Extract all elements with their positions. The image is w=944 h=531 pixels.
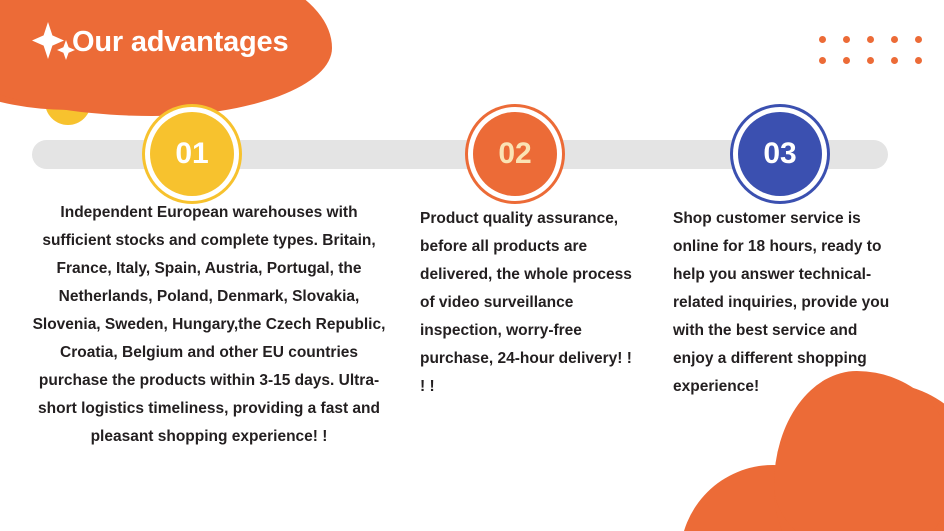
step-number-label: 03 (763, 137, 796, 171)
slide-canvas: Our advantages 01 02 03 Independent Euro… (0, 0, 944, 531)
step-badge-01: 01 (150, 112, 234, 196)
grid-dot (891, 36, 898, 43)
step-number-label: 01 (175, 137, 208, 171)
grid-dot (867, 57, 874, 64)
grid-dot (843, 57, 850, 64)
step-badge-02: 02 (473, 112, 557, 196)
advantage-text-01: Independent European warehouses with suf… (28, 199, 390, 451)
grid-dot (915, 36, 922, 43)
advantage-text-02: Product quality assurance, before all pr… (420, 205, 635, 401)
grid-dot (867, 36, 874, 43)
step-badge-03: 03 (738, 112, 822, 196)
grid-dot (819, 36, 826, 43)
dot-grid-decoration (819, 36, 939, 78)
page-title: Our advantages (72, 26, 288, 59)
grid-dot (843, 36, 850, 43)
advantage-text-03: Shop customer service is online for 18 h… (673, 205, 899, 401)
grid-dot (915, 57, 922, 64)
grid-dot (819, 57, 826, 64)
step-number-label: 02 (498, 137, 531, 171)
grid-dot (891, 57, 898, 64)
